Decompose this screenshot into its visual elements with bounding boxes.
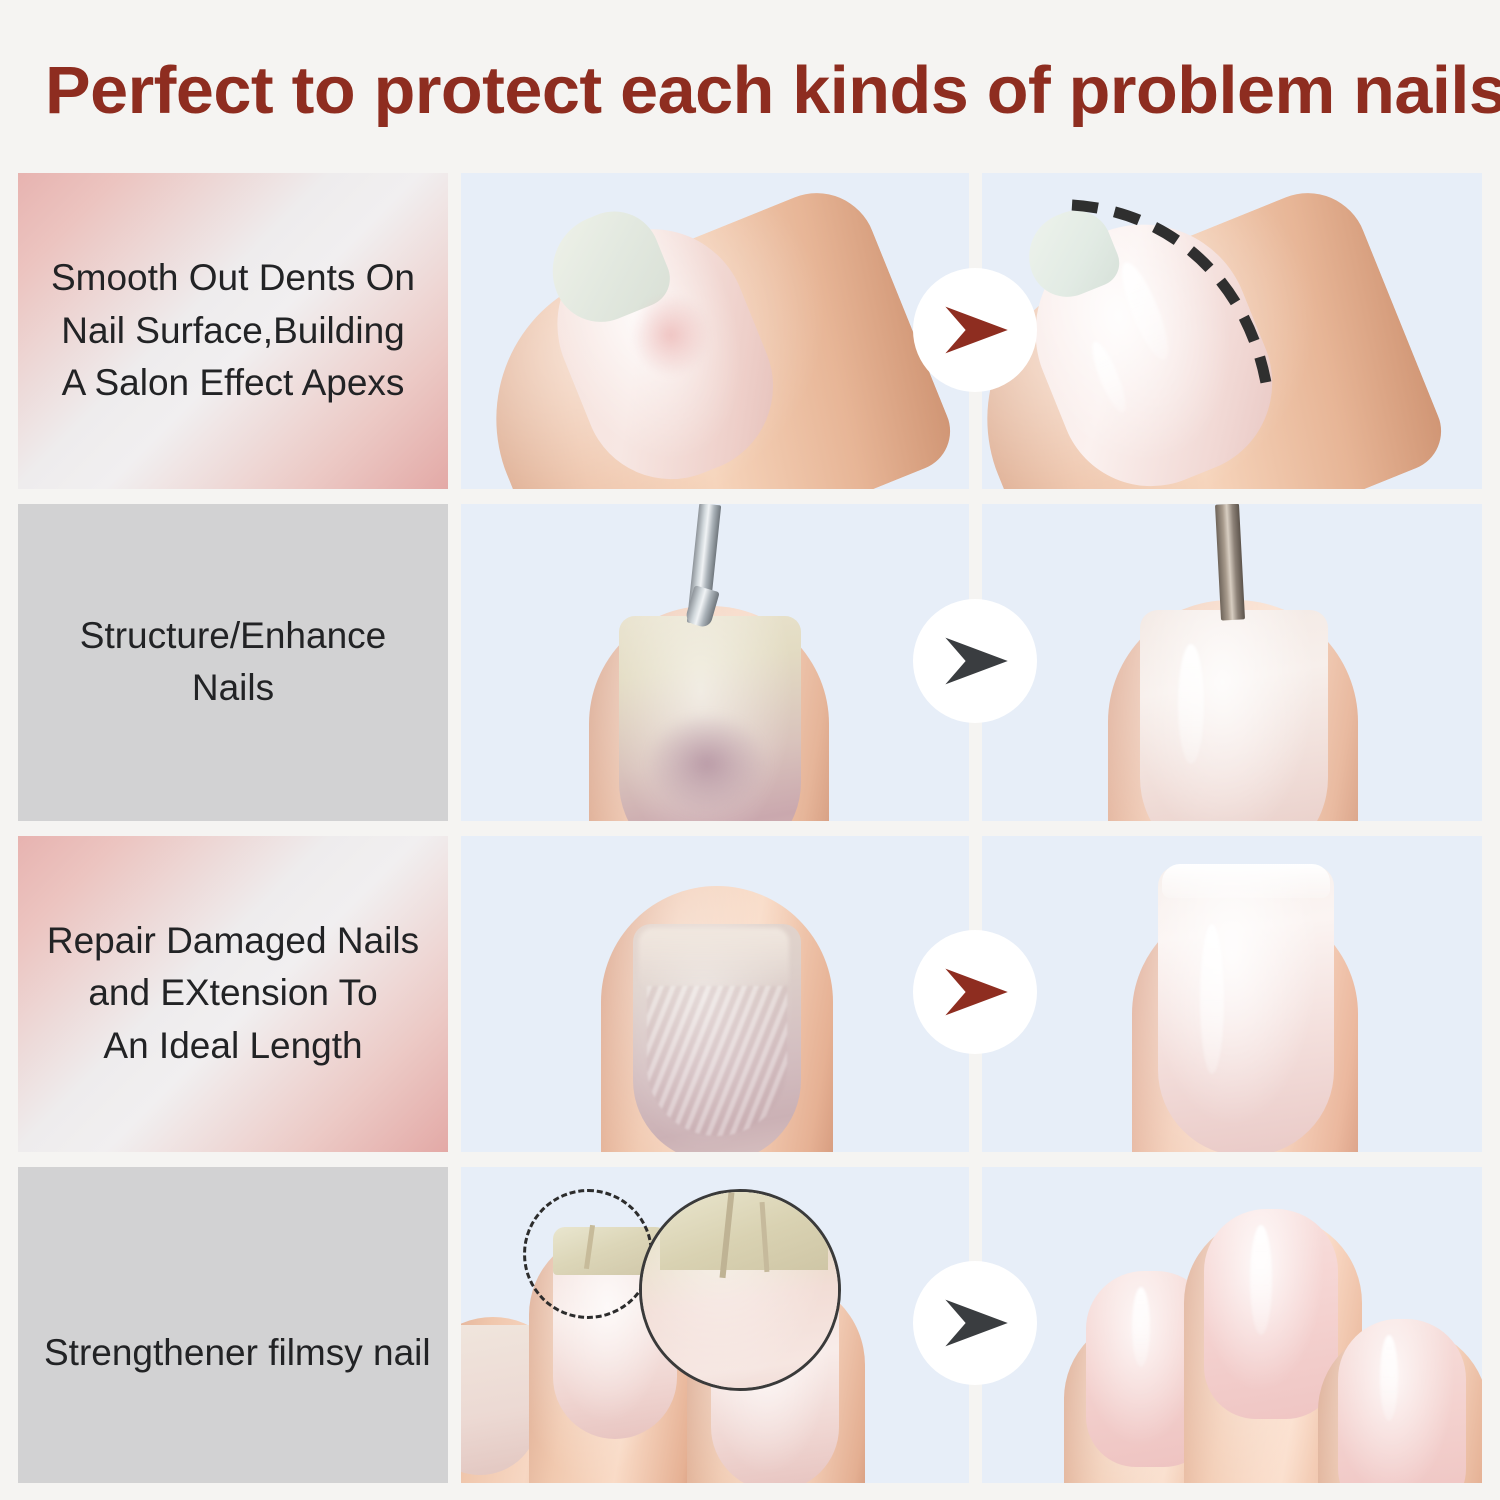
row-label-cell-2: Structure/Enhance Nails xyxy=(18,504,448,820)
row-label-text-2: Structure/Enhance Nails xyxy=(32,610,434,715)
row-label-cell-4: Strengthener filmsy nail xyxy=(18,1167,448,1483)
transition-arrow-badge-4 xyxy=(913,1261,1037,1385)
magnified-detail-circle xyxy=(639,1189,841,1391)
row-label-cell-1: Smooth Out Dents On Nail Surface,Buildin… xyxy=(18,173,448,489)
after-photo-4 xyxy=(982,1167,1482,1483)
before-photo-4 xyxy=(461,1167,969,1483)
transition-arrow-badge-2 xyxy=(913,599,1037,723)
after-photo-1 xyxy=(982,173,1482,489)
chevron-right-arrow-icon xyxy=(936,291,1014,369)
transition-arrow-badge-1 xyxy=(913,268,1037,392)
row-label-text-3: Repair Damaged Nails and EXtension To An… xyxy=(32,915,434,1073)
chevron-right-arrow-icon xyxy=(936,622,1014,700)
row-label-text-1: Smooth Out Dents On Nail Surface,Buildin… xyxy=(32,252,434,410)
row-label-text-4: Strengthener filmsy nail xyxy=(32,1327,434,1380)
chevron-right-arrow-icon xyxy=(936,953,1014,1031)
after-photo-2 xyxy=(982,504,1482,820)
before-photo-1 xyxy=(461,173,969,489)
transition-arrow-badge-3 xyxy=(913,930,1037,1054)
apex-dashed-curve-icon xyxy=(1042,183,1362,483)
infographic-page: Perfect to protect each kinds of problem… xyxy=(0,0,1500,1500)
before-photo-3 xyxy=(461,836,969,1152)
page-title: Perfect to protect each kinds of problem… xyxy=(45,56,1500,126)
damage-marker-circle-icon xyxy=(523,1189,653,1319)
comparison-grid: Smooth Out Dents On Nail Surface,Buildin… xyxy=(18,173,1482,1483)
chevron-right-arrow-icon xyxy=(936,1284,1014,1362)
row-label-cell-3: Repair Damaged Nails and EXtension To An… xyxy=(18,836,448,1152)
before-photo-2 xyxy=(461,504,969,820)
after-photo-3 xyxy=(982,836,1482,1152)
